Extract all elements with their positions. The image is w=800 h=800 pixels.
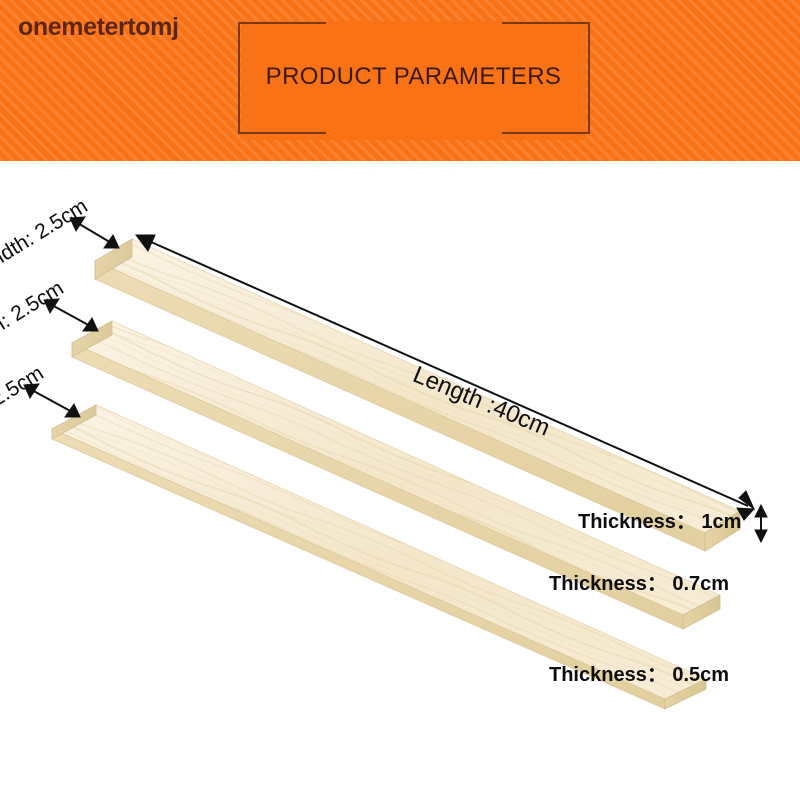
banner-title: PRODUCT PARAMETERS xyxy=(241,63,586,91)
product-parameters-image: onemetertomj PRODUCT PARAMETERS xyxy=(0,0,800,800)
wooden-planks-illustration xyxy=(0,161,800,800)
product-photo: Width: 2.5cm Width: 2.5cm Width: 2.5cm L… xyxy=(0,161,800,800)
header-banner: onemetertomj PRODUCT PARAMETERS xyxy=(0,0,800,161)
thickness-label-middle: Thickness： 0.7cm xyxy=(549,567,729,596)
thickness-label-bottom: Thickness： 0.5cm xyxy=(549,658,729,687)
thickness-label-top: Thickness： 1cm xyxy=(578,505,741,534)
thickness-arrow-top xyxy=(755,505,767,542)
seller-watermark: onemetertomj xyxy=(18,13,179,42)
